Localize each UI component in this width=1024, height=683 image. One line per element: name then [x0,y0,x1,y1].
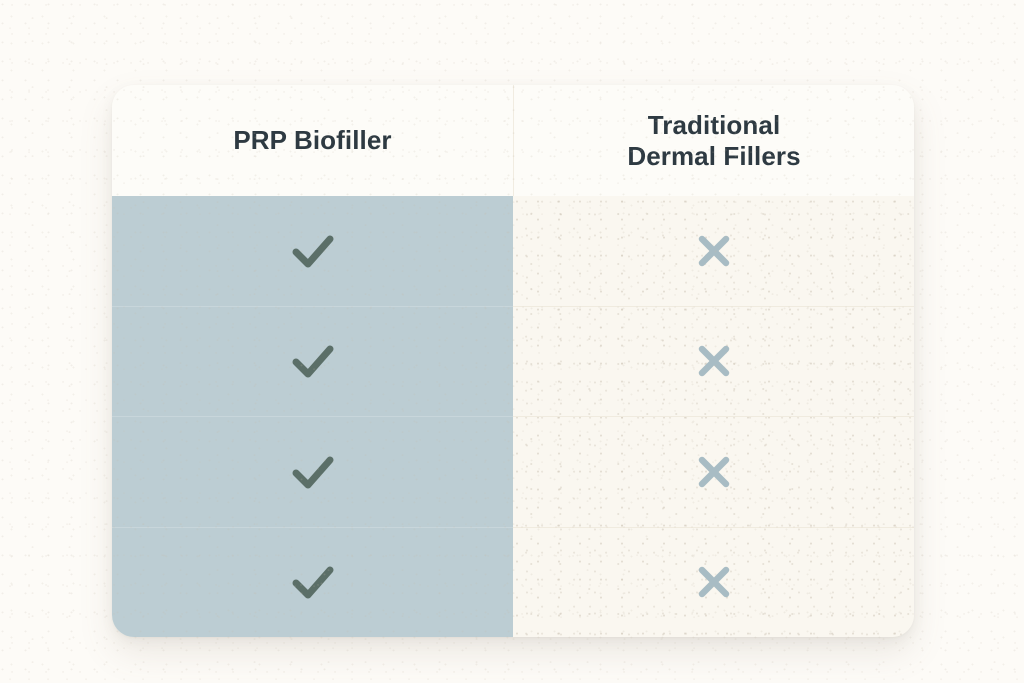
column-header-traditional-dermal-fillers-label: Traditional Dermal Fillers [627,110,800,171]
check-icon [286,334,340,388]
column-header-traditional-dermal-fillers: Traditional Dermal Fillers [513,85,914,196]
table-cell-traditional-row-1: No [513,196,914,306]
table-cell-prp-row-4: Yes [112,527,513,638]
cross-icon [692,560,736,604]
column-body-prp-biofiller: Yes Yes Yes [112,196,513,637]
check-icon [286,555,340,609]
table-cell-traditional-row-3: No [513,416,914,527]
comparison-table-card: PRP Biofiller Traditional Dermal Fillers… [112,85,914,637]
table-header-row: PRP Biofiller Traditional Dermal Fillers [112,85,914,196]
cross-icon [692,339,736,383]
check-icon [286,224,340,278]
cross-icon [692,450,736,494]
check-icon [286,445,340,499]
column-header-prp-biofiller-label: PRP Biofiller [233,125,391,156]
column-body-traditional-dermal-fillers: No No No [513,196,914,637]
table-cell-prp-row-2: Yes [112,306,513,417]
table-cell-prp-row-1: Yes [112,196,513,306]
table-cell-traditional-row-4: No [513,527,914,638]
column-header-line-1: Traditional [648,110,781,140]
table-cell-prp-row-3: Yes [112,416,513,527]
table-cell-traditional-row-2: No [513,306,914,417]
column-header-line-2: Dermal Fillers [627,141,800,172]
table-body: Yes Yes Yes [112,196,914,637]
cross-icon [692,229,736,273]
column-header-prp-biofiller: PRP Biofiller [112,85,513,196]
